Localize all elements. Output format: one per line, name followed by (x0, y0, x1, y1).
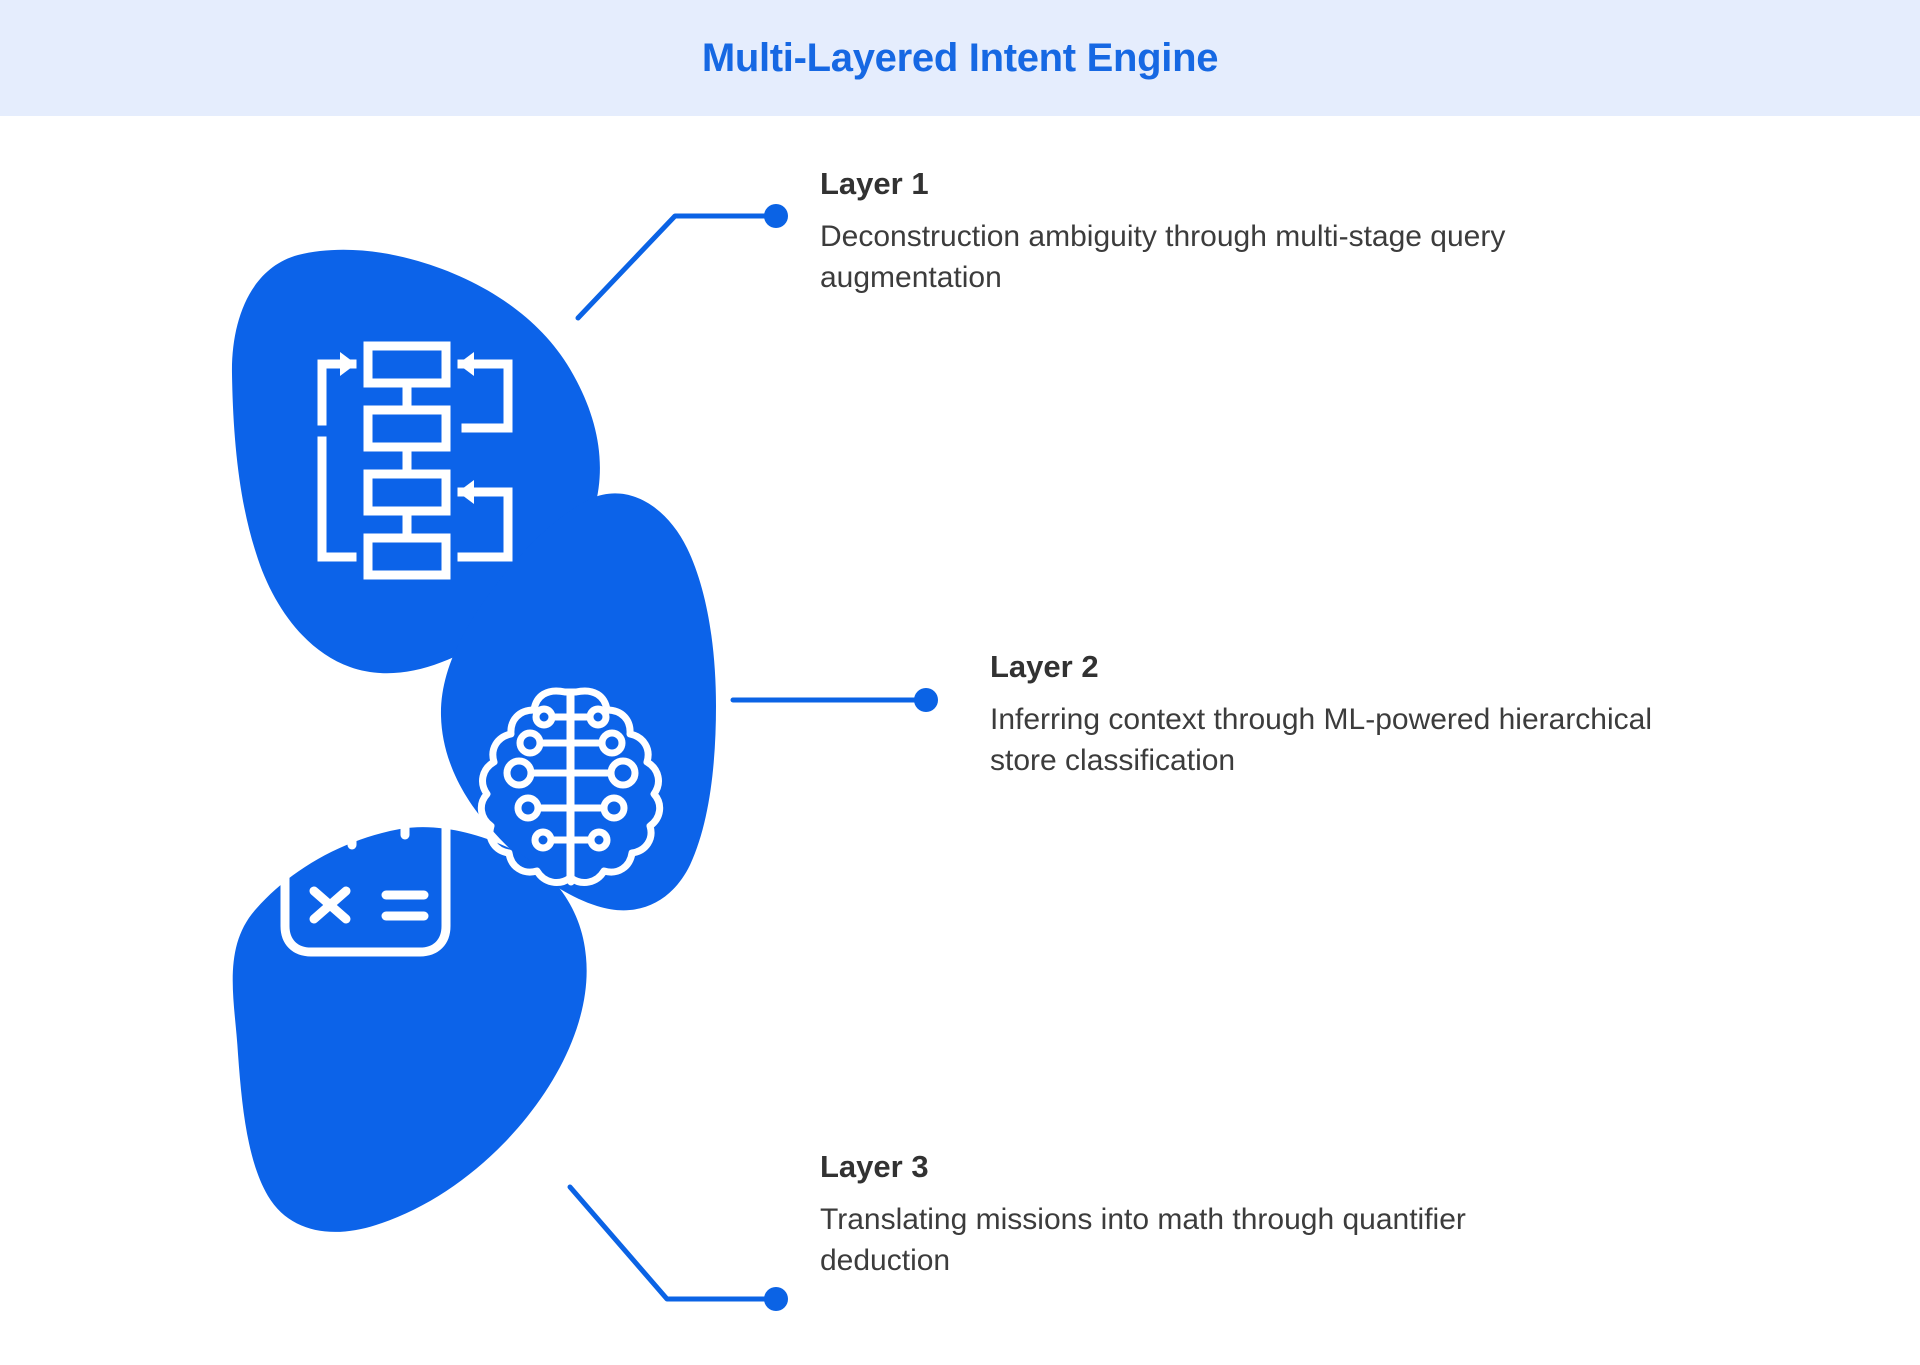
infographic-page: Multi-Layered Intent Engine (0, 0, 1920, 1365)
layer-2-title: Layer 2 (990, 649, 1750, 685)
layer-1-connector (578, 204, 788, 318)
layer-3-connector (570, 1187, 788, 1311)
layer-3-description: Translating missions into math through q… (820, 1199, 1520, 1282)
layer-3-connector-dot (764, 1287, 788, 1311)
layer-2-text-block: Layer 2 Inferring context through ML-pow… (990, 649, 1750, 781)
layer-1-description: Deconstruction ambiguity through multi-s… (820, 216, 1520, 299)
layer-1-connector-dot (764, 204, 788, 228)
layer-2-connector-dot (914, 688, 938, 712)
layer-1-connector-line (578, 216, 770, 318)
diagram-stage: Layer 1 Deconstruction ambiguity through… (0, 116, 1920, 1365)
layer-2-connector (733, 688, 938, 712)
layer-3-connector-line (570, 1187, 770, 1299)
page-title: Multi-Layered Intent Engine (0, 0, 1920, 116)
layer-1-title: Layer 1 (820, 166, 1580, 202)
layer-2-description: Inferring context through ML-powered hie… (990, 699, 1690, 782)
layer-3-title: Layer 3 (820, 1149, 1580, 1185)
layer-1-text-block: Layer 1 Deconstruction ambiguity through… (820, 166, 1580, 298)
layer-3-text-block: Layer 3 Translating missions into math t… (820, 1149, 1580, 1281)
